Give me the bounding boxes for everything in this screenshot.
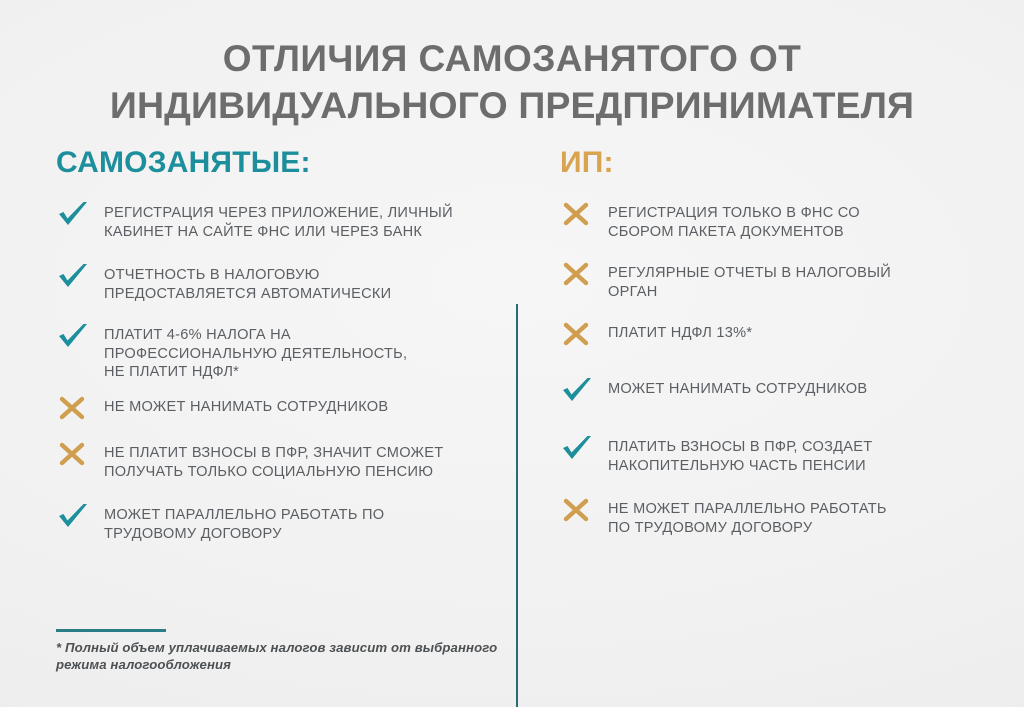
cross-icon <box>560 199 594 229</box>
comparison-columns: САМОЗАНЯТЫЕ: РЕГИСТРАЦИЯ ЧЕРЕЗ ПРИЛОЖЕНИ… <box>0 146 1024 586</box>
column-individual-entrepreneur: ИП: РЕГИСТРАЦИЯ ТОЛЬКО В ФНС СО СБОРОМ П… <box>560 146 980 180</box>
check-icon <box>56 321 90 351</box>
list-item: НЕ МОЖЕТ НАНИМАТЬ СОТРУДНИКОВ <box>56 396 506 423</box>
list-item-label: НЕ МОЖЕТ ПАРАЛЛЕЛЬНО РАБОТАТЬ ПО ТРУДОВО… <box>608 498 887 537</box>
list-item-label: ПЛАТИТ 4-6% НАЛОГА НА ПРОФЕССИОНАЛЬНУЮ Д… <box>104 324 407 382</box>
list-item-label: НЕ МОЖЕТ НАНИМАТЬ СОТРУДНИКОВ <box>104 396 388 417</box>
page-title: ОТЛИЧИЯ САМОЗАНЯТОГО ОТ ИНДИВИДУАЛЬНОГО … <box>0 36 1024 128</box>
list-item: ПЛАТИТ НДФЛ 13%* <box>560 322 980 349</box>
cross-icon <box>560 495 594 525</box>
title-line-1: ОТЛИЧИЯ САМОЗАНЯТОГО ОТ <box>0 36 1024 82</box>
check-icon <box>560 375 594 405</box>
list-item-label: НЕ ПЛАТИТ ВЗНОСЫ В ПФР, ЗНАЧИТ СМОЖЕТ ПО… <box>104 442 443 481</box>
list-item-label: РЕГУЛЯРНЫЕ ОТЧЕТЫ В НАЛОГОВЫЙ ОРГАН <box>608 262 891 301</box>
list-item: РЕГИСТРАЦИЯ ЧЕРЕЗ ПРИЛОЖЕНИЕ, ЛИЧНЫЙ КАБ… <box>56 202 506 241</box>
list-item: ПЛАТИТ 4-6% НАЛОГА НА ПРОФЕССИОНАЛЬНУЮ Д… <box>56 324 506 382</box>
list-item: РЕГУЛЯРНЫЕ ОТЧЕТЫ В НАЛОГОВЫЙ ОРГАН <box>560 262 980 301</box>
infographic-poster: ОТЛИЧИЯ САМОЗАНЯТОГО ОТ ИНДИВИДУАЛЬНОГО … <box>0 0 1024 707</box>
title-line-2: ИНДИВИДУАЛЬНОГО ПРЕДПРИНИМАТЕЛЯ <box>0 82 1024 128</box>
check-icon <box>56 261 90 291</box>
list-item-label: РЕГИСТРАЦИЯ ТОЛЬКО В ФНС СО СБОРОМ ПАКЕТ… <box>608 202 860 241</box>
column-heading-self-employed: САМОЗАНЯТЫЕ: <box>56 146 506 180</box>
check-icon <box>56 199 90 229</box>
list-item-label: МОЖЕТ ПАРАЛЛЕЛЬНО РАБОТАТЬ ПО ТРУДОВОМУ … <box>104 504 384 543</box>
cross-icon <box>56 439 90 469</box>
list-item: МОЖЕТ НАНИМАТЬ СОТРУДНИКОВ <box>560 378 980 405</box>
list-item-label: ОТЧЕТНОСТЬ В НАЛОГОВУЮ ПРЕДОСТАВЛЯЕТСЯ А… <box>104 264 391 303</box>
check-icon <box>56 501 90 531</box>
footnote-rule <box>56 629 166 632</box>
cross-icon <box>560 259 594 289</box>
column-heading-individual-entrepreneur: ИП: <box>560 146 980 180</box>
list-item-label: ПЛАТИТ НДФЛ 13%* <box>608 322 752 343</box>
footnote-text: * Полный объем уплачиваемых налогов зави… <box>56 640 616 673</box>
check-icon <box>560 433 594 463</box>
list-item: НЕ ПЛАТИТ ВЗНОСЫ В ПФР, ЗНАЧИТ СМОЖЕТ ПО… <box>56 442 506 481</box>
list-item-label: МОЖЕТ НАНИМАТЬ СОТРУДНИКОВ <box>608 378 867 399</box>
list-item-label: РЕГИСТРАЦИЯ ЧЕРЕЗ ПРИЛОЖЕНИЕ, ЛИЧНЫЙ КАБ… <box>104 202 453 241</box>
cross-icon <box>560 319 594 349</box>
list-item: ОТЧЕТНОСТЬ В НАЛОГОВУЮ ПРЕДОСТАВЛЯЕТСЯ А… <box>56 264 506 303</box>
list-item: РЕГИСТРАЦИЯ ТОЛЬКО В ФНС СО СБОРОМ ПАКЕТ… <box>560 202 980 241</box>
list-item-label: ПЛАТИТЬ ВЗНОСЫ В ПФР, СОЗДАЕТ НАКОПИТЕЛЬ… <box>608 436 872 475</box>
cross-icon <box>56 393 90 423</box>
list-item: ПЛАТИТЬ ВЗНОСЫ В ПФР, СОЗДАЕТ НАКОПИТЕЛЬ… <box>560 436 980 475</box>
column-self-employed: САМОЗАНЯТЫЕ: РЕГИСТРАЦИЯ ЧЕРЕЗ ПРИЛОЖЕНИ… <box>56 146 506 180</box>
list-item: НЕ МОЖЕТ ПАРАЛЛЕЛЬНО РАБОТАТЬ ПО ТРУДОВО… <box>560 498 980 537</box>
list-item: МОЖЕТ ПАРАЛЛЕЛЬНО РАБОТАТЬ ПО ТРУДОВОМУ … <box>56 504 506 543</box>
